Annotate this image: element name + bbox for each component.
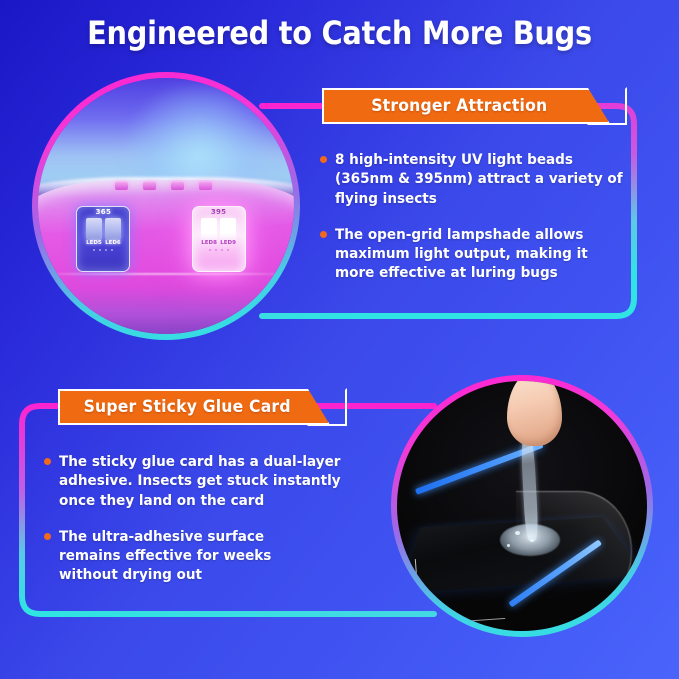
bullet-list-super-sticky-glue-card: The sticky glue card has a dual-layer ad… <box>44 452 364 602</box>
finger <box>507 381 562 446</box>
glue-card-photo-ring <box>391 375 653 637</box>
list-item: The sticky glue card has a dual-layer ad… <box>44 452 364 510</box>
glue-card-peel-outline <box>415 553 505 625</box>
led-chip <box>86 218 102 240</box>
bullet-text: The open-grid lampshade allows maximum l… <box>335 225 628 283</box>
led-solder-dot <box>105 249 107 251</box>
bullet-dot-icon <box>320 231 327 238</box>
led-module-365: 365 LED5 LED6 <box>76 206 130 272</box>
led-chip <box>201 218 217 240</box>
banner-super-sticky-glue-card[interactable]: Super Sticky Glue Card <box>58 389 330 425</box>
bullet-dot-icon <box>320 156 327 163</box>
bullet-text: The ultra-adhesive surface remains effec… <box>59 527 329 585</box>
lamp-uv-highlight <box>125 83 273 191</box>
led-solder-dots <box>209 249 229 251</box>
led-module-395: 395 LED8 LED9 <box>192 206 246 272</box>
lampshade-grid-slot <box>115 182 128 191</box>
led-solder-dot <box>111 249 113 251</box>
led-wavelength-label: 395 <box>211 209 227 216</box>
banner-stronger-attraction[interactable]: Stronger Attraction <box>322 88 610 124</box>
led-chip-labels: LED5 LED6 <box>86 241 121 247</box>
glue-scene <box>397 381 647 631</box>
led-chip-label: LED8 <box>201 241 217 247</box>
led-solder-dot <box>99 249 101 251</box>
led-solder-dot <box>215 249 217 251</box>
lamp-seam <box>43 273 289 275</box>
bullet-list-stronger-attraction: 8 high-intensity UV light beads (365nm &… <box>320 150 650 300</box>
uv-lamp-photo-ring: 365 LED5 LED6 <box>32 72 300 340</box>
banner-label: Super Sticky Glue Card <box>84 397 304 417</box>
glue-bead <box>530 539 534 542</box>
lampshade-grid-slot <box>143 182 156 191</box>
led-chip <box>220 218 236 240</box>
bullet-dot-icon <box>44 458 51 465</box>
uv-lamp-photo: 365 LED5 LED6 <box>38 78 294 334</box>
infographic-canvas: Engineered to Catch More Bugs <box>0 0 679 679</box>
led-solder-dots <box>93 249 113 251</box>
bullet-text: The sticky glue card has a dual-layer ad… <box>59 452 343 510</box>
lampshade-grid-slot <box>171 182 184 191</box>
led-chip-label: LED6 <box>105 241 121 247</box>
led-chip <box>105 218 121 240</box>
page-title: Engineered to Catch More Bugs <box>34 14 645 52</box>
lamp-scene: 365 LED5 LED6 <box>38 78 294 334</box>
list-item: 8 high-intensity UV light beads (365nm &… <box>320 150 650 208</box>
led-chip-row <box>86 218 121 240</box>
led-chip-row <box>201 218 236 240</box>
lampshade-grid-slot <box>199 182 212 191</box>
led-chip-label: LED9 <box>220 241 236 247</box>
bullet-text: 8 high-intensity UV light beads (365nm &… <box>335 150 628 208</box>
led-solder-dot <box>209 249 211 251</box>
led-wavelength-label: 365 <box>96 209 112 216</box>
led-solder-dot <box>221 249 223 251</box>
list-item: The ultra-adhesive surface remains effec… <box>44 527 364 585</box>
lamp-bottom-shadow <box>38 288 294 334</box>
led-solder-dot <box>227 249 229 251</box>
bullet-dot-icon <box>44 533 51 540</box>
banner-label: Stronger Attraction <box>371 96 560 116</box>
led-solder-dot <box>93 249 95 251</box>
list-item: The open-grid lampshade allows maximum l… <box>320 225 650 283</box>
led-chip-labels: LED8 LED9 <box>201 241 236 247</box>
glue-card-photo <box>397 381 647 631</box>
glue-bead <box>507 544 510 547</box>
led-chip-label: LED5 <box>86 241 102 247</box>
glue-bead <box>515 531 520 535</box>
